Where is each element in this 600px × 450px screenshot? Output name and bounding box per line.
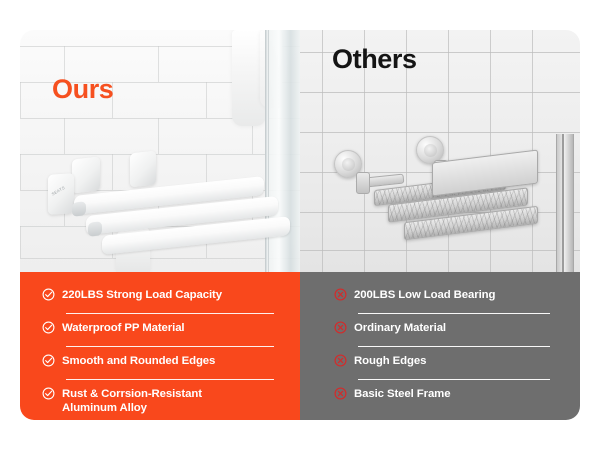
x-circle-icon — [334, 321, 347, 334]
title-ours: Ours — [52, 76, 113, 103]
feature-item: 220LBS Strong Load Capacity — [42, 286, 284, 308]
feature-label: Rough Edges — [354, 352, 426, 368]
feature-label: 200LBS Low Load Bearing — [354, 286, 495, 302]
shower-seat-ours: SEATS — [34, 158, 284, 266]
feature-label: Waterproof PP Material — [62, 319, 185, 335]
feature-separator — [358, 346, 550, 347]
feature-label: Basic Steel Frame — [354, 385, 450, 401]
feature-item: Ordinary Material — [334, 319, 564, 341]
feature-label: Rust & Corrsion-Resistant Aluminum Alloy — [62, 385, 248, 415]
x-circle-icon — [334, 354, 347, 367]
check-circle-icon — [42, 321, 55, 334]
feature-panel-ours: 220LBS Strong Load Capacity Waterproof P… — [20, 272, 300, 420]
product-photo-ours: SEATS Ours — [20, 30, 300, 272]
feature-label: 220LBS Strong Load Capacity — [62, 286, 222, 302]
check-circle-icon — [42, 288, 55, 301]
feature-separator — [358, 313, 550, 314]
photo-region: SEATS Ours — [20, 30, 580, 272]
feature-item: Rust & Corrsion-Resistant Aluminum Alloy — [42, 385, 284, 415]
feature-item: Smooth and Rounded Edges — [42, 352, 284, 374]
feature-item: Basic Steel Frame — [334, 385, 564, 407]
feature-separator — [66, 346, 274, 347]
screenshot-canvas: SEATS Ours — [0, 0, 600, 450]
feature-separator — [358, 379, 550, 380]
x-circle-icon — [334, 288, 347, 301]
check-circle-icon — [42, 387, 55, 400]
feature-label: Ordinary Material — [354, 319, 446, 335]
product-photo-others: Others — [300, 30, 580, 272]
feature-item: Rough Edges — [334, 352, 564, 374]
check-circle-icon — [42, 354, 55, 367]
title-others: Others — [332, 46, 417, 73]
feature-label: Smooth and Rounded Edges — [62, 352, 215, 368]
feature-panels: 220LBS Strong Load Capacity Waterproof P… — [20, 272, 580, 420]
feature-separator — [66, 313, 274, 314]
shower-frame — [556, 134, 574, 272]
x-circle-icon — [334, 387, 347, 400]
feature-separator — [66, 379, 274, 380]
comparison-card: SEATS Ours — [20, 30, 580, 420]
feature-panel-others: 200LBS Low Load Bearing Ordinary Materia… — [300, 272, 580, 420]
feature-item: 200LBS Low Load Bearing — [334, 286, 564, 308]
feature-item: Waterproof PP Material — [42, 319, 284, 341]
bracket-branded: SEATS — [48, 173, 74, 215]
